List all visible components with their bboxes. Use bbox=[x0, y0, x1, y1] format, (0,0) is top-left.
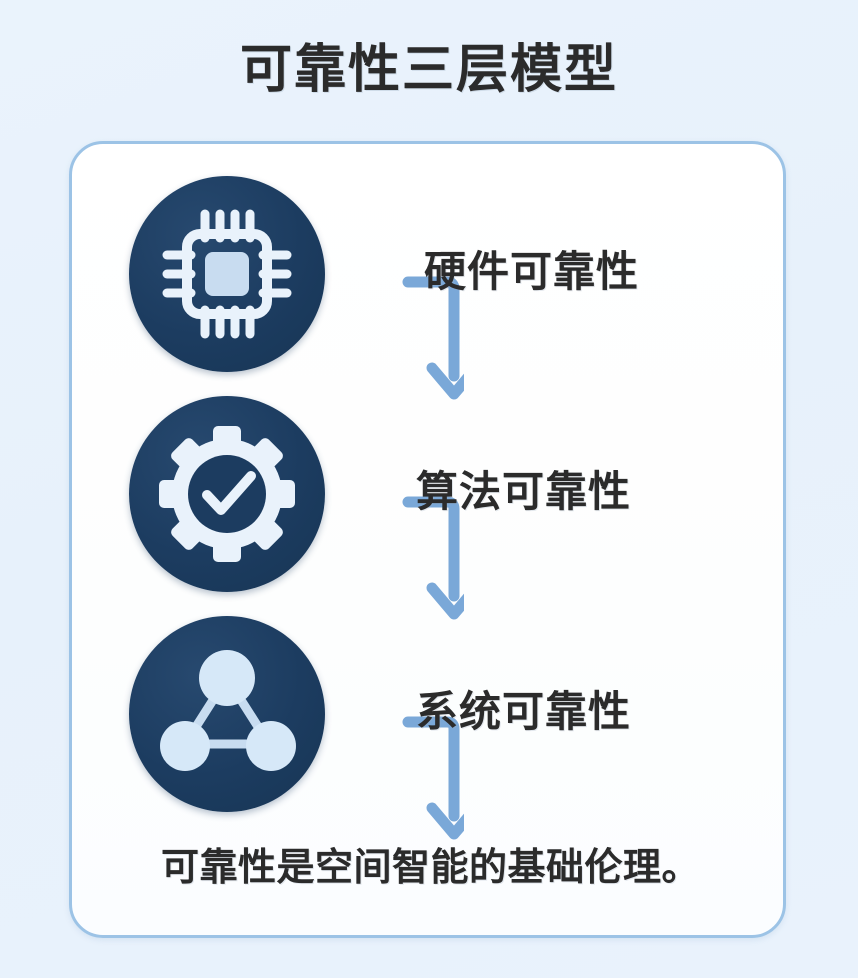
gear-check-icon bbox=[129, 396, 325, 592]
layer-label-hardware: 硬件可靠性 bbox=[424, 238, 774, 299]
page-title: 可靠性三层模型 bbox=[0, 27, 858, 102]
cpu-chip-icon bbox=[129, 176, 325, 372]
layer-row-system: 系统可靠性 bbox=[72, 612, 789, 832]
layer-label-algorithm: 算法可靠性 bbox=[416, 458, 766, 519]
model-card: 硬件可靠性 bbox=[69, 141, 786, 938]
layer-row-hardware: 硬件可靠性 bbox=[72, 172, 789, 392]
card-footer-text: 可靠性是空间智能的基础伦理。 bbox=[72, 836, 789, 891]
layer-row-algorithm: 算法可靠性 bbox=[72, 392, 789, 612]
layer-label-system: 系统可靠性 bbox=[416, 678, 766, 739]
network-nodes-icon bbox=[129, 616, 325, 812]
